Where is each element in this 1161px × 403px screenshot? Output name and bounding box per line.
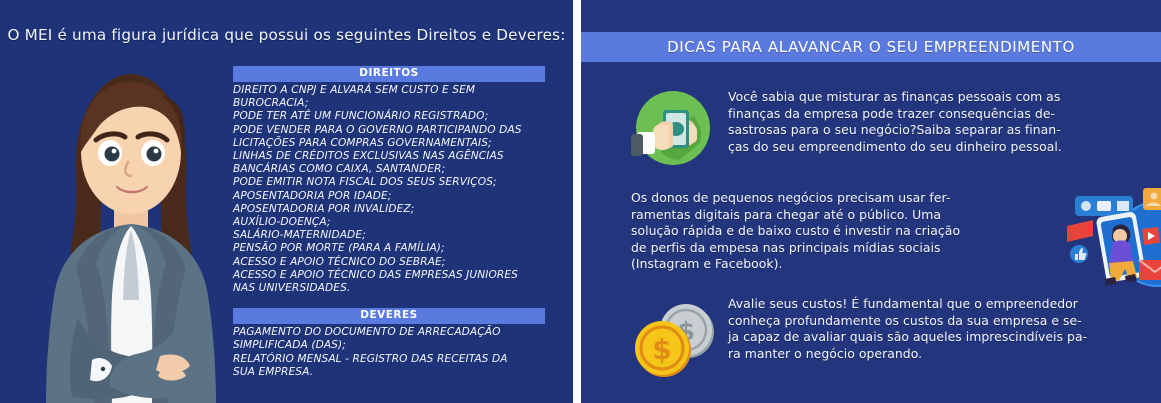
section-header-deveres: DEVERES (233, 308, 545, 324)
hand-holding-money-icon (631, 86, 715, 170)
tip-text-2: Os donos de pequenos negócios precisam u… (631, 190, 1031, 273)
left-panel-title: O MEI é uma figura jurídica que possui o… (0, 26, 573, 44)
list-spacer (233, 295, 545, 308)
deveres-items: PAGAMENTO DO DOCUMENTO DE ARRECADAÇÃO SI… (233, 326, 545, 379)
social-media-illustration (1065, 182, 1161, 294)
direitos-items: DIREITO A CNPJ E ALVARÁ SEM CUSTO E SEM … (233, 84, 545, 295)
tip-text-1: Você sabia que misturar as finanças pess… (728, 89, 1153, 155)
infographic-root: O MEI é uma figura jurídica que possui o… (0, 0, 1161, 403)
right-panel-header-bar: DICAS PARA ALAVANCAR O SEU EMPREENDIMENT… (581, 32, 1161, 62)
businesswoman-illustration (32, 56, 230, 403)
tip-text-3: Avalie seus custos! É fundamental que o … (728, 296, 1161, 362)
section-body-deveres: PAGAMENTO DO DOCUMENTO DE ARRECADAÇÃO SI… (233, 326, 545, 379)
right-panel-header-text: DICAS PARA ALAVANCAR O SEU EMPREENDIMENT… (667, 38, 1075, 56)
section-body-direitos: DIREITO A CNPJ E ALVARÁ SEM CUSTO E SEM … (233, 84, 545, 295)
right-panel: DICAS PARA ALAVANCAR O SEU EMPREENDIMENT… (581, 0, 1161, 403)
rights-duties-list: DIREITOS DIREITO A CNPJ E ALVARÁ SEM CUS… (233, 66, 545, 379)
svg-text:$: $ (652, 333, 671, 366)
coins-icon: $ $ (631, 300, 721, 384)
section-header-direitos: DIREITOS (233, 66, 545, 82)
left-panel: O MEI é uma figura jurídica que possui o… (0, 0, 573, 403)
